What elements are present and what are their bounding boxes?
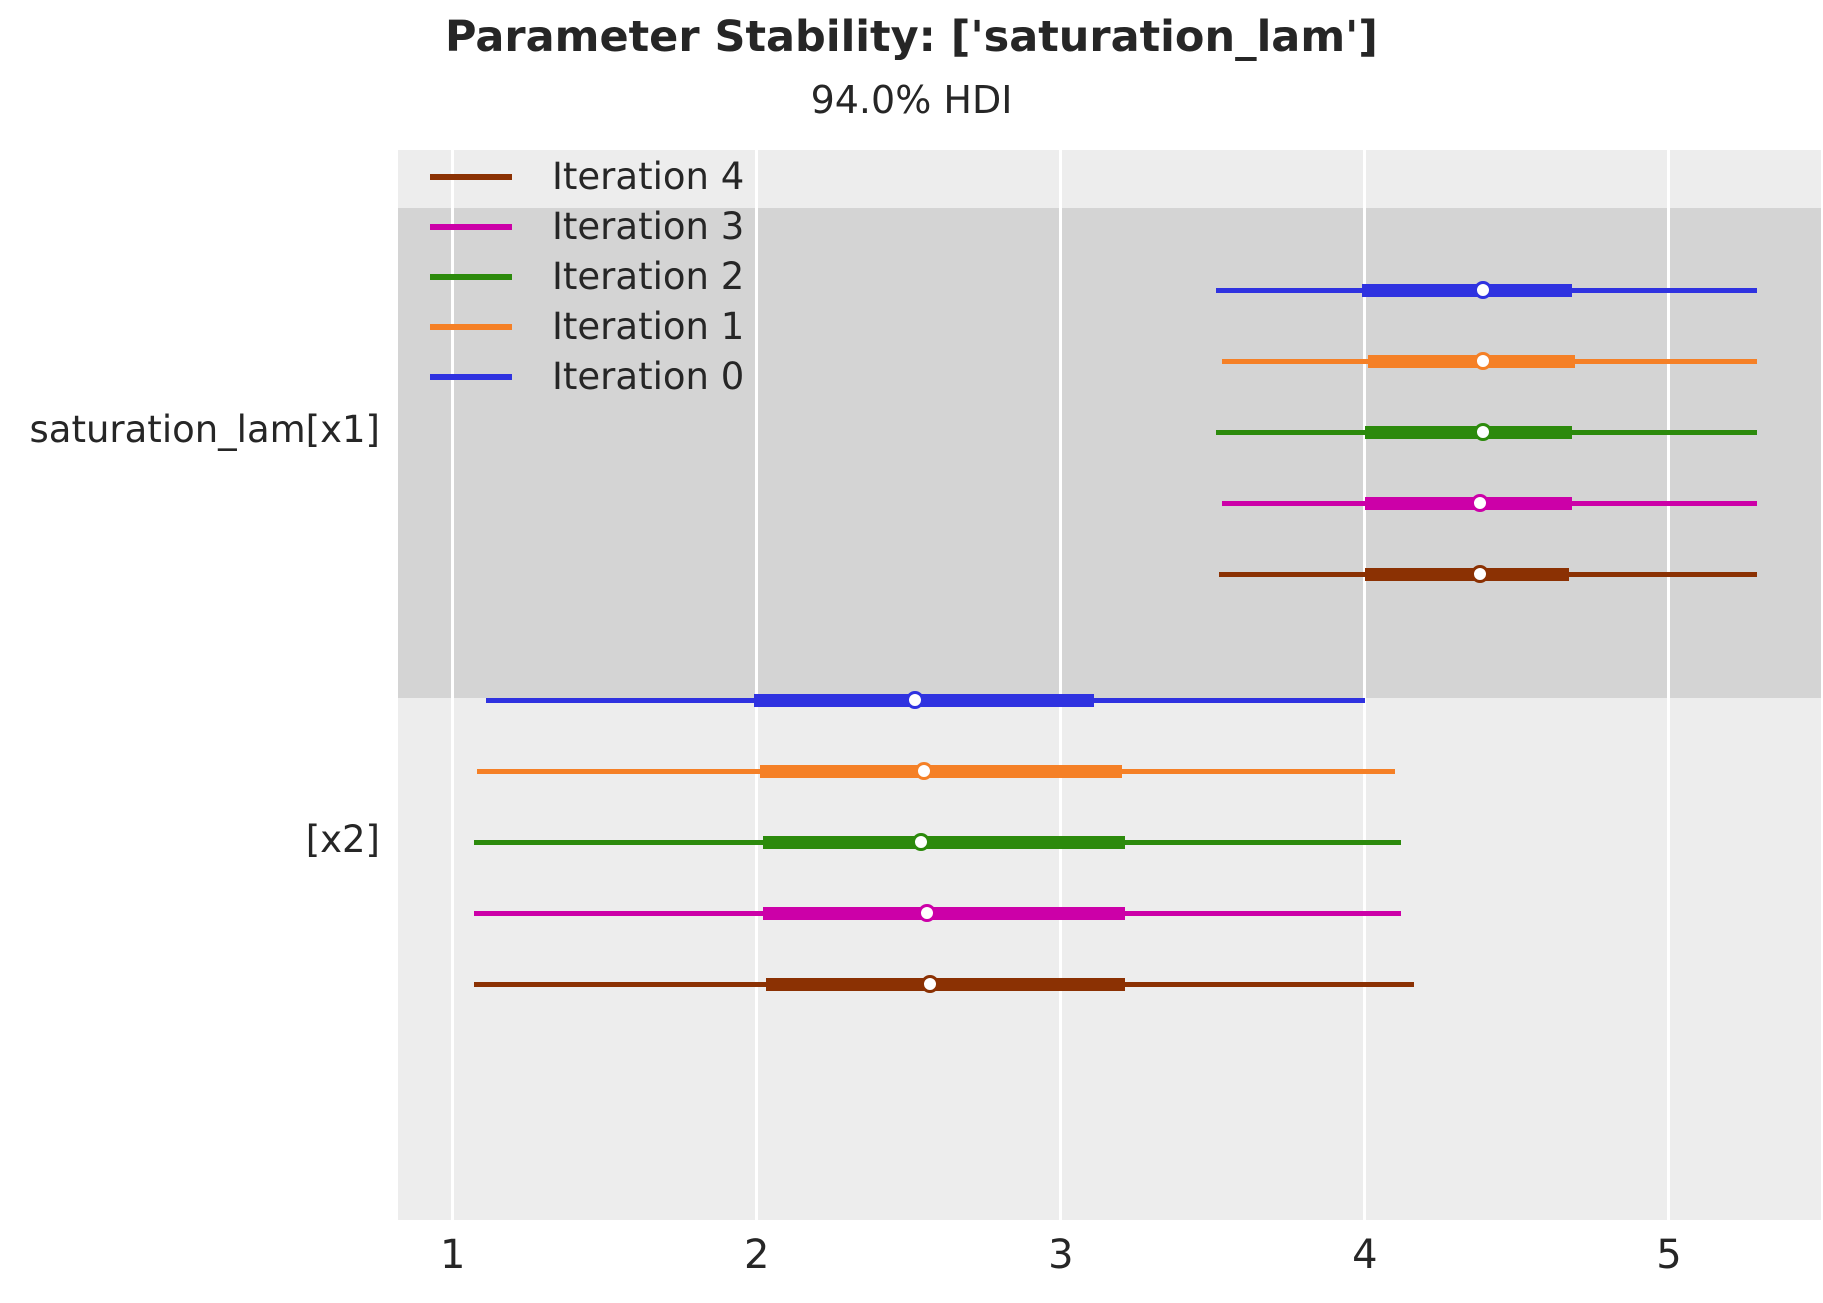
forest-plot-figure: Parameter Stability: ['saturation_lam'] …: [0, 0, 1823, 1303]
page-title: Parameter Stability: ['saturation_lam']: [0, 12, 1823, 62]
x-tick-label: 5: [1629, 1232, 1709, 1278]
legend-label: Iteration 0: [552, 352, 744, 402]
iqr-bar: [1365, 426, 1572, 439]
gridline: [1667, 150, 1670, 1220]
legend-swatch-line-icon: [430, 174, 512, 180]
legend[interactable]: Iteration 4Iteration 3Iteration 2Iterati…: [430, 152, 850, 402]
iqr-bar: [1362, 284, 1572, 297]
iqr-bar: [763, 836, 1125, 849]
legend-item-iteration-3[interactable]: Iteration 3: [430, 202, 850, 252]
legend-item-iteration-0[interactable]: Iteration 0: [430, 352, 850, 402]
point-estimate-marker: [912, 833, 930, 851]
x-tick-label: 4: [1325, 1232, 1405, 1278]
iqr-bar: [1368, 355, 1575, 368]
legend-item-iteration-1[interactable]: Iteration 1: [430, 302, 850, 352]
x-tick-label: 3: [1021, 1232, 1101, 1278]
point-estimate-marker: [915, 762, 933, 780]
legend-label: Iteration 4: [552, 152, 744, 202]
y-tick-label: saturation_lam[x1]: [30, 408, 380, 451]
gridline: [1363, 150, 1366, 1220]
point-estimate-marker: [921, 975, 939, 993]
legend-swatch-line-icon: [430, 374, 512, 380]
legend-item-iteration-2[interactable]: Iteration 2: [430, 252, 850, 302]
point-estimate-marker: [918, 904, 936, 922]
x-tick-label: 1: [413, 1232, 493, 1278]
iqr-bar: [763, 907, 1125, 920]
point-estimate-marker: [906, 691, 924, 709]
y-tick-label: [x2]: [306, 818, 380, 861]
gridline: [1059, 150, 1062, 1220]
figure-subtitle: 94.0% HDI: [0, 78, 1823, 122]
iqr-bar: [1365, 568, 1569, 581]
legend-swatch-line-icon: [430, 274, 512, 280]
x-tick-label: 2: [717, 1232, 797, 1278]
legend-label: Iteration 1: [552, 302, 744, 352]
legend-label: Iteration 2: [552, 252, 744, 302]
iqr-bar: [760, 765, 1122, 778]
legend-item-iteration-4[interactable]: Iteration 4: [430, 152, 850, 202]
iqr-bar: [1365, 497, 1572, 510]
legend-label: Iteration 3: [552, 202, 744, 252]
iqr-bar: [754, 694, 1095, 707]
legend-swatch-line-icon: [430, 324, 512, 330]
legend-swatch-line-icon: [430, 224, 512, 230]
iqr-bar: [766, 978, 1125, 991]
